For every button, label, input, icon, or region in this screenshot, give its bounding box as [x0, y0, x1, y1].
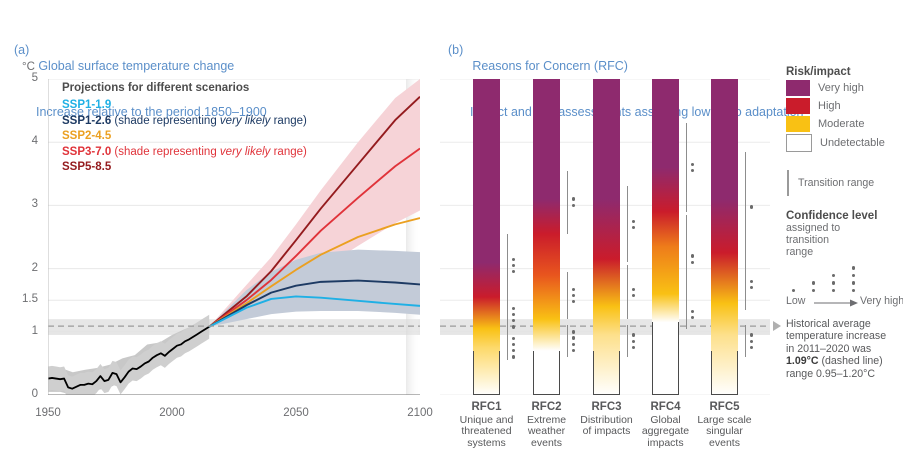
transition-range-rfc3-2 — [627, 265, 628, 319]
confidence-scale-dot — [832, 274, 835, 277]
rfc-bar-outline-rfc2 — [533, 351, 560, 395]
hist-line-4-rest: (dashed line) — [819, 355, 883, 367]
rfc-bar-outline-rfc1 — [473, 351, 500, 395]
rfc-bar-rfc1[interactable] — [473, 79, 500, 395]
panel-a-label: (a) — [14, 43, 29, 57]
confidence-arrow-icon — [814, 297, 860, 309]
transition-range-rfc4-2 — [686, 215, 687, 303]
rfc-desc-line: impacts — [635, 438, 697, 450]
risk-swatch-list: Very highHighModerateUndetectable — [786, 80, 903, 152]
scenario-note: (shade representing very likely range) — [111, 115, 307, 127]
transition-range-rfc5-2 — [745, 259, 746, 310]
panel-b-label: (b) — [448, 43, 463, 57]
risk-color-swatch — [786, 98, 810, 114]
historical-average-note: Historical average temperature increase … — [786, 318, 903, 380]
rfc-label-rfc1: RFC1Unique andthreatenedsystems — [456, 402, 518, 449]
transition-range-rfc4-3 — [686, 300, 687, 328]
transition-range-rfc2-2 — [567, 272, 568, 319]
transition-range-rfc1-1 — [507, 234, 508, 297]
confidence-scale-dot — [852, 281, 855, 284]
rfc-label-rfc4: RFC4Globalaggregateimpacts — [635, 402, 697, 449]
scenario-name: SSP1-1.9 — [62, 99, 111, 111]
rfc-bar-rfc5[interactable] — [711, 79, 738, 395]
risk-legend-title: Risk/impact — [786, 66, 903, 78]
hist-line-2: temperature increase — [786, 330, 903, 342]
historical-note-arrow-icon — [773, 321, 781, 331]
rfc-bar-rfc3[interactable] — [593, 79, 620, 395]
scenario-legend-item-ssp3-70: SSP3-7.0 (shade representing very likely… — [62, 146, 362, 158]
scenario-name: SSP1-2.6 — [62, 115, 111, 127]
rfc-desc-line: events — [694, 438, 756, 450]
risk-color-swatch — [786, 134, 812, 152]
transition-range-rfc1-3 — [507, 335, 508, 360]
y-tick-label-1-5: 1.5 — [8, 293, 38, 305]
y-tick-label-0: 0 — [8, 388, 38, 400]
transition-range-rfc1-2 — [507, 297, 508, 338]
y-tick-label-3: 3 — [8, 198, 38, 210]
risk-level-moderate: Moderate — [786, 116, 903, 132]
scenario-note: (shade representing very likely range) — [111, 146, 307, 158]
risk-level-label: High — [818, 100, 841, 112]
rfc-bar-outline-rfc4 — [652, 322, 679, 395]
confidence-scale-dot — [812, 281, 815, 284]
x-tick-label-2050: 2050 — [271, 407, 321, 419]
transition-range-rfc2-3 — [567, 325, 568, 357]
confidence-scale-dot — [792, 289, 795, 292]
transition-range-rfc3-1 — [627, 186, 628, 262]
confidence-legend-sub-2: transition — [786, 234, 903, 246]
rfc-label-rfc3: RFC3Distributionof impacts — [576, 402, 638, 438]
confidence-legend-title: Confidence level — [786, 210, 903, 222]
risk-color-swatch — [786, 80, 810, 96]
transition-range-key-icon — [787, 170, 789, 196]
confidence-scale-dot — [832, 289, 835, 292]
transition-range-rfc5-1 — [745, 152, 746, 263]
hist-line-1: Historical average — [786, 318, 903, 330]
rfc-label-rfc5: RFC5Large scalesingularevents — [694, 402, 756, 449]
scenario-name: SSP2-4.5 — [62, 130, 111, 142]
rfc-desc-line: of impacts — [576, 426, 638, 438]
rfc-desc-line: events — [516, 438, 578, 450]
transition-range-rfc2-1 — [567, 171, 568, 234]
rfc-desc-line: systems — [456, 438, 518, 450]
confidence-legend-sub-3: range — [786, 246, 903, 258]
confidence-high-label: Very high — [860, 295, 903, 307]
y-tick-label-5: 5 — [8, 72, 38, 84]
scenario-legend-item-ssp1-26: SSP1-2.6 (shade representing very likely… — [62, 115, 362, 127]
transition-range-label: Transition range — [798, 177, 874, 189]
scenario-name: SSP3-7.0 — [62, 146, 111, 158]
scenario-legend-item-ssp5-85: SSP5-8.5 — [62, 161, 362, 173]
hist-line-5: range 0.95–1.20°C — [786, 368, 903, 380]
rfc-id: RFC1 — [456, 402, 518, 414]
rfc-id: RFC3 — [576, 402, 638, 414]
x-tick-label-2000: 2000 — [147, 407, 197, 419]
confidence-scale-dot — [812, 289, 815, 292]
scenario-legend-item-ssp2-45: SSP2-4.5 — [62, 130, 362, 142]
risk-color-swatch — [786, 116, 810, 132]
scenario-legend-header: Projections for different scenarios — [62, 82, 362, 94]
risk-level-very-high: Very high — [786, 80, 903, 96]
transition-range-rfc3-3 — [627, 325, 628, 357]
confidence-scale-dot — [832, 281, 835, 284]
transition-range-rfc4-1 — [686, 123, 687, 211]
risk-level-label: Very high — [818, 82, 864, 94]
rfc-label-rfc2: RFC2Extremeweatherevents — [516, 402, 578, 449]
risk-level-label: Undetectable — [820, 137, 885, 149]
scenario-legend: Projections for different scenarios SSP1… — [62, 82, 362, 177]
rfc-id: RFC2 — [516, 402, 578, 414]
transition-range-rfc5-3 — [745, 325, 746, 357]
confidence-scale-dot — [852, 289, 855, 292]
panel-b-line1: Reasons for Concern (RFC) — [472, 59, 628, 73]
x-tick-label-2100: 2100 — [395, 407, 445, 419]
rfc-id: RFC5 — [694, 402, 756, 414]
confidence-low-label: Low — [786, 295, 805, 307]
confidence-dot-scale — [786, 259, 901, 295]
panel-a-line1: Global surface temperature change — [38, 59, 234, 73]
rfc-bar-rfc2[interactable] — [533, 79, 560, 395]
x-tick-label-1950: 1950 — [23, 407, 73, 419]
confidence-legend-sub-1: assigned to — [786, 222, 903, 234]
y-tick-label-1: 1 — [8, 325, 38, 337]
hist-value: 1.09°C — [786, 355, 819, 367]
rfc-id: RFC4 — [635, 402, 697, 414]
scenario-name: SSP5-8.5 — [62, 161, 111, 173]
y-tick-label-2: 2 — [8, 262, 38, 274]
risk-level-high: High — [786, 98, 903, 114]
confidence-scale-dot — [852, 274, 855, 277]
scenario-legend-item-ssp1-19: SSP1-1.9 — [62, 99, 362, 111]
hist-line-3: in 2011–2020 was — [786, 343, 903, 355]
confidence-dot — [512, 325, 515, 328]
confidence-dot — [512, 355, 515, 358]
risk-level-undetectable: Undetectable — [786, 134, 903, 152]
rfc-bar-outline-rfc5 — [711, 351, 738, 395]
risk-legend: Risk/impact Very highHighModerateUndetec… — [786, 66, 903, 309]
risk-level-label: Moderate — [818, 118, 864, 130]
confidence-scale-dot — [852, 266, 855, 269]
y-tick-label-4: 4 — [8, 135, 38, 147]
rfc-bar-outline-rfc3 — [593, 351, 620, 395]
